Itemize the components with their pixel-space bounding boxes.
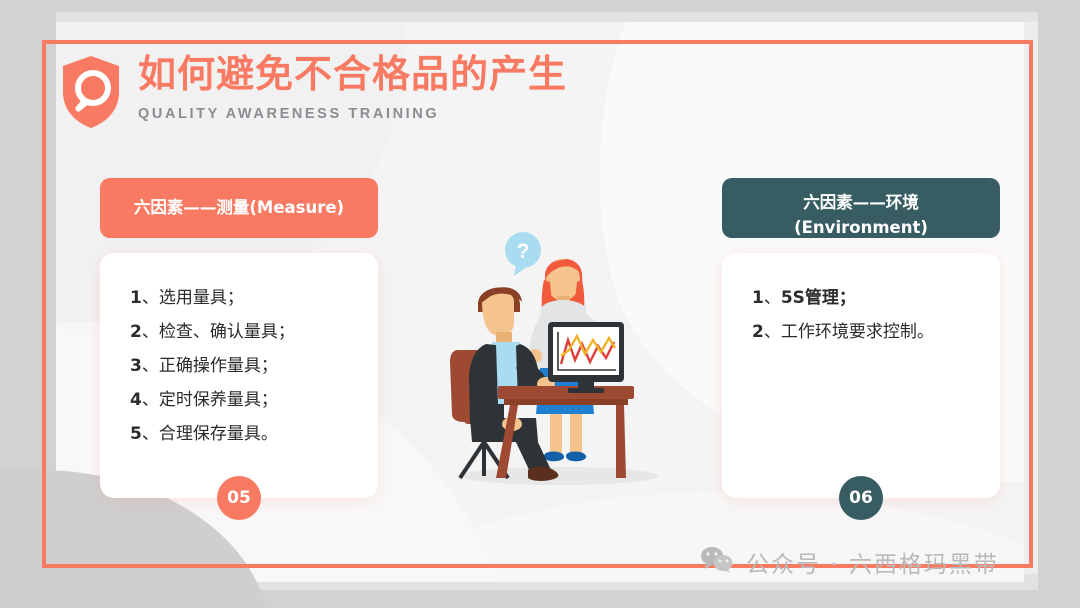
list-item-number: 3 [130,356,142,376]
panel-measure: 六因素——测量(Measure) 1、选用量具； 2、检查、确认量具； 3、正确… [100,178,378,498]
page-title: 如何避免不合格品的产生 [138,50,567,98]
wechat-icon [700,546,734,579]
list-item-number: 4 [130,390,142,410]
list-item-sep: 、 [142,288,159,308]
list-item: 1、5S管理； [752,281,978,315]
list-item-sep: 、 [764,322,781,342]
footer-watermark-text: 公众号 · 六西格玛黑带 [746,545,999,579]
footer-watermark: 公众号 · 六西格玛黑带 [700,545,999,579]
panel-environment-body: 1、5S管理； 2、工作环境要求控制。 06 [722,253,1000,498]
list-item-number: 2 [130,322,142,342]
list-item-number: 2 [752,322,764,342]
list-item-sep: 、 [142,390,159,410]
list-item-text: 选用量具； [159,288,244,308]
office-workers-analyzing-chart-illustration: ? [440,228,670,490]
question-mark-speech-bubble: ? [505,232,541,276]
list-item: 4、定时保养量具； [130,383,356,417]
panel-environment-heading: 六因素——环境 (Environment) [722,178,1000,238]
title-block: 如何避免不合格品的产生 QUALITY AWARENESS TRAINING [138,50,567,122]
page-subtitle: QUALITY AWARENESS TRAINING [138,106,567,122]
background-band-right [1038,0,1080,608]
list-item-sep: 、 [142,424,159,444]
list-item: 1、选用量具； [130,281,356,315]
list-item: 3、正确操作量具； [130,349,356,383]
list-item: 2、工作环境要求控制。 [752,315,978,349]
list-item-text: 检查、确认量具； [159,322,295,342]
list-item-text: 5S管理； [781,288,856,308]
svg-text:?: ? [517,240,530,263]
panel-measure-body: 1、选用量具； 2、检查、确认量具； 3、正确操作量具； 4、定时保养量具； 5… [100,253,378,498]
status-badge: 06 [839,476,883,520]
list-item-sep: 、 [142,322,159,342]
list-item: 2、检查、确认量具； [130,315,356,349]
panel-environment-heading-line1: 六因素——环境 [732,190,990,215]
slide-stage: 如何避免不合格品的产生 QUALITY AWARENESS TRAINING 六… [0,0,1080,608]
list-item-number: 1 [752,288,764,308]
status-badge: 05 [217,476,261,520]
list-item: 5、合理保存量具。 [130,417,356,451]
list-item-text: 正确操作量具； [159,356,278,376]
panel-environment: 六因素——环境 (Environment) 1、5S管理； 2、工作环境要求控制… [722,178,1000,498]
list-item-sep: 、 [142,356,159,376]
shield-search-icon [60,54,122,130]
list-item-number: 5 [130,424,142,444]
list-item-sep: 、 [764,288,781,308]
panel-environment-heading-line2: (Environment) [732,215,990,240]
panel-measure-heading: 六因素——测量(Measure) [100,178,378,238]
list-item-text: 工作环境要求控制。 [781,322,934,342]
list-item-text: 定时保养量具； [159,390,278,410]
list-item-number: 1 [130,288,142,308]
slide-header: 如何避免不合格品的产生 QUALITY AWARENESS TRAINING [60,50,680,142]
list-item-text: 合理保存量具。 [159,424,278,444]
